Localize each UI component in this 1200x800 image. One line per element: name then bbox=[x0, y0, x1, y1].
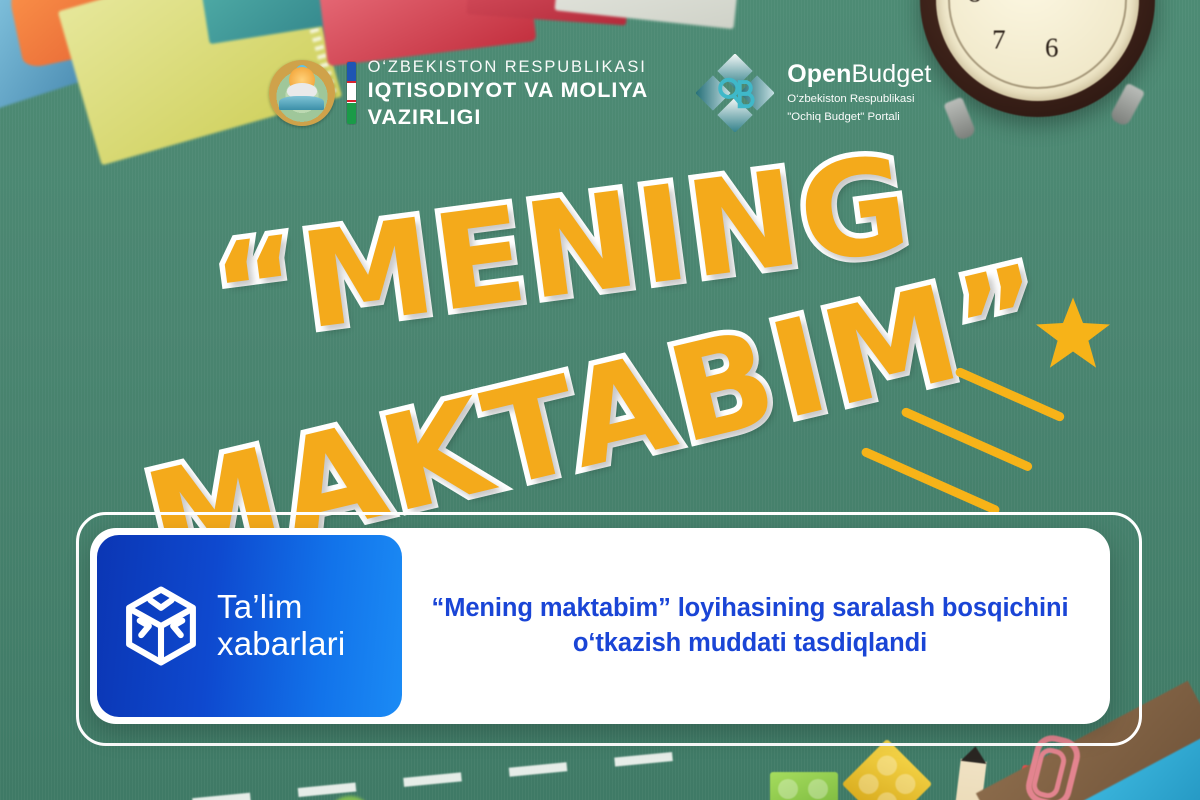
badge-label-line-1: Ta’lim bbox=[217, 588, 303, 625]
hero-quote-open: “ bbox=[205, 207, 313, 371]
openbudget-title-bold: Open bbox=[787, 60, 851, 88]
badge-label-line-2: xabarlari bbox=[217, 625, 345, 662]
clock-number-7: 7 bbox=[992, 25, 1006, 56]
ministry-text: O‘ZBEKISTON RESPUBLIKASI IQTISODIYOT VA … bbox=[368, 58, 649, 129]
folder-white bbox=[554, 0, 745, 29]
ministry-line-3: VAZIRLIGI bbox=[368, 105, 649, 129]
hero-quote-close: ” bbox=[941, 235, 1065, 406]
speed-line-2 bbox=[900, 406, 1033, 472]
lego-brick-red bbox=[1009, 764, 1091, 800]
openbudget-title: OpenBudget bbox=[787, 61, 931, 89]
banner-stage: 9 8 7 6 5 O‘ZBEKISTON RESPUB bbox=[0, 0, 1200, 800]
openbudget-subtitle-2: "Ochiq Budget" Portali bbox=[787, 110, 931, 125]
headline-area: “Mening maktabim” loyihasining saralash … bbox=[402, 528, 1110, 724]
hero-wordmark: saralash bosqichi “MENING MAKTABIM” bbox=[0, 150, 1200, 570]
pencil bbox=[949, 759, 986, 800]
green-confetti bbox=[330, 796, 370, 800]
news-card: Ta’lim xabarlari “Mening maktabim” loyih… bbox=[90, 528, 1110, 724]
hero-word-mening: “MENING bbox=[205, 127, 920, 371]
badge-label: Ta’lim xabarlari bbox=[217, 589, 345, 663]
dashed-road-line bbox=[0, 751, 679, 800]
uzbekistan-state-emblem-icon bbox=[269, 60, 335, 126]
paperclip-inner bbox=[1029, 745, 1068, 800]
openbudget-diamond-icon bbox=[696, 54, 774, 132]
header-logos: O‘ZBEKISTON RESPUBLIKASI IQTISODIYOT VA … bbox=[0, 58, 1200, 132]
cube-box-icon bbox=[123, 585, 199, 667]
star-icon bbox=[1034, 296, 1112, 370]
education-news-badge[interactable]: Ta’lim xabarlari bbox=[97, 535, 402, 717]
openbudget-logo: OpenBudget O‘zbekiston Respublikasi "Och… bbox=[696, 54, 931, 132]
clock-number-8: 8 bbox=[968, 0, 982, 9]
speed-line-1 bbox=[954, 366, 1065, 422]
lego-brick-yellow bbox=[842, 739, 933, 800]
news-headline: “Mening maktabim” loyihasining saralash … bbox=[416, 591, 1084, 661]
openbudget-title-light: Budget bbox=[852, 60, 932, 88]
folder-red-2 bbox=[466, 0, 633, 25]
folder-teal bbox=[193, 0, 398, 44]
openbudget-subtitle-1: O‘zbekiston Respublikasi bbox=[787, 92, 931, 107]
openbudget-text: OpenBudget O‘zbekiston Respublikasi "Och… bbox=[787, 61, 931, 125]
hero-word-1: MENING bbox=[293, 127, 920, 360]
ministry-line-1: O‘ZBEKISTON RESPUBLIKASI bbox=[368, 58, 649, 76]
clock-number-5: 5 bbox=[1090, 0, 1104, 3]
lego-brick-green bbox=[770, 772, 838, 800]
speed-line-3 bbox=[860, 446, 1001, 515]
ministry-logo: O‘ZBEKISTON RESPUBLIKASI IQTISODIYOT VA … bbox=[269, 58, 649, 129]
ministry-line-2: IQTISODIYOT VA MOLIYA bbox=[368, 78, 649, 102]
folder-red bbox=[313, 0, 536, 66]
uzbekistan-flag-bar-icon bbox=[347, 62, 356, 124]
